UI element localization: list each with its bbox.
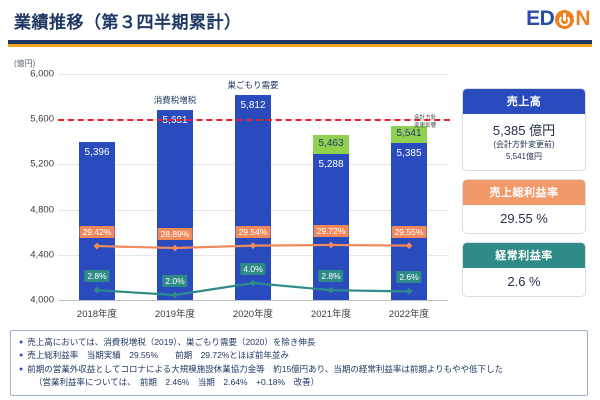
metric-value: 2.6 % <box>465 274 583 289</box>
y-axis-tick-label: 4,800 <box>10 204 54 215</box>
chart-series-lines <box>0 52 455 320</box>
metric-card-body: 2.6 % <box>463 268 585 296</box>
footnote-text: （営業利益率については、 前期 2.46% 当期 2.64% +0.18% 改善… <box>34 376 319 389</box>
power-icon <box>555 10 574 29</box>
logo-text-n: N <box>575 7 590 31</box>
metric-value: 29.55 % <box>465 211 583 226</box>
series-value-label-ordinary: 2.8% <box>84 270 109 282</box>
x-axis-tick-label: 2022年度 <box>373 306 445 320</box>
bar-group[interactable]: 5,681消費税増税2019年度 <box>157 52 193 300</box>
series-value-label-gross: 29.55% <box>392 226 427 238</box>
bullet-icon: ● <box>19 349 23 362</box>
series-value-label-gross: 29.54% <box>236 226 271 238</box>
bar-group[interactable]: 5,3962018年度 <box>79 52 115 300</box>
reference-line <box>58 119 450 121</box>
bullet-icon: ● <box>19 336 23 349</box>
x-axis-tick-label: 2018年度 <box>61 306 133 320</box>
page-title: 業績推移（第３四半期累計） <box>14 8 242 33</box>
edion-logo: ED N <box>526 5 590 33</box>
bar-group[interactable]: 5,4635,2882021年度 <box>313 52 349 300</box>
y-axis-tick-label: 6,000 <box>10 69 54 80</box>
bullet-icon: ● <box>19 363 23 376</box>
performance-chart: (億円) 6,0005,6005,2004,8004,4004,000 5,39… <box>0 52 455 320</box>
bar-value-label-prepolicy: 5,463 <box>307 138 355 149</box>
x-axis-line <box>58 300 448 301</box>
metric-card: 売上総利益率29.55 % <box>462 179 586 234</box>
metric-cards: 売上高5,385 億円(会計方針変更前)5,541億円売上総利益率29.55 %… <box>462 88 592 305</box>
title-rule-orange <box>8 44 592 47</box>
footnote-text: 売上高においては、消費税増税（2019）、巣ごもり需要（2020）を除き伸長 <box>27 336 315 349</box>
metric-card-title: 経常利益率 <box>463 243 585 268</box>
logo-text-ed: ED <box>526 7 554 31</box>
series-value-label-gross: 29.72% <box>314 225 349 237</box>
metric-card-title: 売上総利益率 <box>463 180 585 205</box>
metric-card-body: 5,385 億円(会計方針変更前)5,541億円 <box>463 114 585 170</box>
footnote-row: ● 売上高においては、消費税増税（2019）、巣ごもり需要（2020）を除き伸長 <box>19 336 579 349</box>
reference-line-note: 会計方針 変更影響 <box>414 115 454 130</box>
metric-subnote-line2: 5,541億円 <box>465 152 583 163</box>
y-axis-tick-label: 4,400 <box>10 249 54 260</box>
metric-card-body: 29.55 % <box>463 205 585 233</box>
footnotes-box: ● 売上高においては、消費税増税（2019）、巣ごもり需要（2020）を除き伸長… <box>10 330 588 396</box>
x-axis-tick-label: 2021年度 <box>295 306 367 320</box>
bar-value-label-sales: 5,396 <box>73 147 121 158</box>
series-value-label-ordinary: 4.0% <box>240 263 265 275</box>
series-value-label-gross: 28.89% <box>158 228 193 240</box>
footnote-text: 売上総利益率 当期実績 29.55% 前期 29.72%とほぼ前年並み <box>27 349 289 362</box>
bar-group[interactable]: 5,5415,3852022年度 <box>391 52 427 300</box>
series-value-label-gross: 29.42% <box>80 226 115 238</box>
metric-value: 5,385 億円 <box>465 120 583 139</box>
x-axis-tick-label: 2019年度 <box>139 306 211 320</box>
y-axis-unit-label: (億円) <box>14 58 35 69</box>
page-header: 業績推移（第３四半期累計） ED N <box>0 0 600 52</box>
metric-card-title: 売上高 <box>463 89 585 114</box>
bar-value-label-sales: 5,288 <box>307 159 355 170</box>
footnote-row: ● 売上総利益率 当期実績 29.55% 前期 29.72%とほぼ前年並み <box>19 349 579 362</box>
reference-note-line1: 会計方針 <box>414 115 454 123</box>
y-axis-tick-label: 4,000 <box>10 295 54 306</box>
metric-card: 経常利益率2.6 % <box>462 242 586 297</box>
footnote-row: （営業利益率については、 前期 2.46% 当期 2.64% +0.18% 改善… <box>19 376 579 389</box>
bar-sales[interactable] <box>157 110 193 300</box>
reference-note-line2: 変更影響 <box>414 123 454 131</box>
footnote-text: 前期の営業外収益としてコロナによる大規模施設休業協力金等 約15億円あり、当期の… <box>27 363 503 376</box>
y-axis-tick-label: 5,200 <box>10 159 54 170</box>
bar-annotation: 消費税増税 <box>131 94 219 106</box>
footnote-row: ● 前期の営業外収益としてコロナによる大規模施設休業協力金等 約15億円あり、当… <box>19 363 579 376</box>
metric-subnote-line1: (会計方針変更前) <box>465 140 583 151</box>
y-axis-tick-label: 5,600 <box>10 114 54 125</box>
bar-value-label-sales: 5,812 <box>229 100 277 111</box>
bar-annotation: 巣ごもり需要 <box>209 79 297 91</box>
series-value-label-ordinary: 2.8% <box>318 270 343 282</box>
series-value-label-ordinary: 2.6% <box>396 271 421 283</box>
x-axis-tick-label: 2020年度 <box>217 306 289 320</box>
metric-card: 売上高5,385 億円(会計方針変更前)5,541億円 <box>462 88 586 171</box>
series-value-label-ordinary: 2.0% <box>162 275 187 287</box>
bar-value-label-sales: 5,385 <box>385 148 433 159</box>
